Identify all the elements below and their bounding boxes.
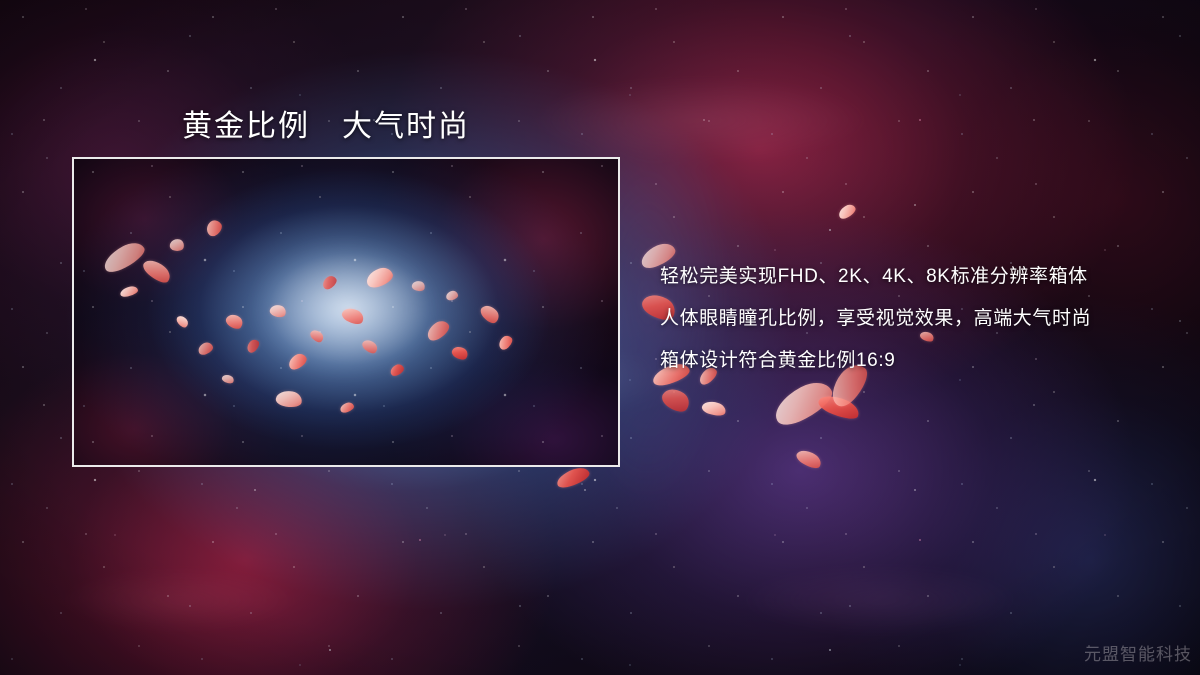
slide-canvas: 黄金比例 大气时尚 轻松完美实现FHD、2K、4K、8K标准分辨率箱体 人体眼睛… bbox=[0, 0, 1200, 675]
framed-image bbox=[72, 157, 620, 467]
petal bbox=[450, 344, 470, 362]
petal bbox=[496, 333, 514, 351]
petal bbox=[286, 351, 309, 372]
petal bbox=[221, 373, 235, 385]
petal bbox=[769, 375, 838, 431]
body-line-3: 箱体设计符合黄金比例16:9 bbox=[660, 340, 1180, 382]
watermark-text: 元盟智能科技 bbox=[1084, 640, 1192, 665]
petal bbox=[445, 290, 459, 301]
petal bbox=[196, 341, 214, 357]
petal bbox=[701, 399, 728, 418]
inner-nebula bbox=[74, 159, 618, 465]
petal bbox=[836, 202, 857, 221]
body-text-block: 轻松完美实现FHD、2K、4K、8K标准分辨率箱体 人体眼睛瞳孔比例，享受视觉效… bbox=[660, 256, 1180, 382]
petal bbox=[794, 446, 824, 471]
petal bbox=[119, 285, 139, 298]
petal bbox=[224, 311, 245, 331]
petal bbox=[169, 238, 185, 253]
petal bbox=[389, 362, 406, 377]
body-line-2: 人体眼睛瞳孔比例，享受视觉效果，高端大气时尚 bbox=[660, 298, 1180, 340]
petal bbox=[340, 305, 366, 327]
petal bbox=[175, 314, 190, 330]
inner-starfield bbox=[74, 159, 618, 465]
petal bbox=[424, 318, 452, 344]
petal bbox=[554, 465, 591, 491]
petal bbox=[320, 274, 339, 292]
petal-group-inner bbox=[74, 159, 618, 465]
petal bbox=[245, 337, 262, 354]
petal bbox=[816, 391, 862, 423]
petal bbox=[360, 337, 379, 356]
page-title: 黄金比例 大气时尚 bbox=[182, 101, 470, 145]
petal bbox=[100, 238, 148, 276]
inner-core-glow bbox=[74, 159, 618, 465]
petal bbox=[339, 401, 355, 414]
petal bbox=[659, 384, 693, 416]
petal bbox=[411, 279, 426, 292]
body-line-1: 轻松完美实现FHD、2K、4K、8K标准分辨率箱体 bbox=[660, 256, 1180, 298]
petal bbox=[140, 255, 173, 286]
petal bbox=[275, 389, 303, 409]
petal bbox=[269, 303, 288, 319]
petal bbox=[308, 328, 325, 345]
petal bbox=[364, 265, 395, 290]
petal bbox=[203, 217, 224, 238]
petal bbox=[478, 302, 502, 326]
